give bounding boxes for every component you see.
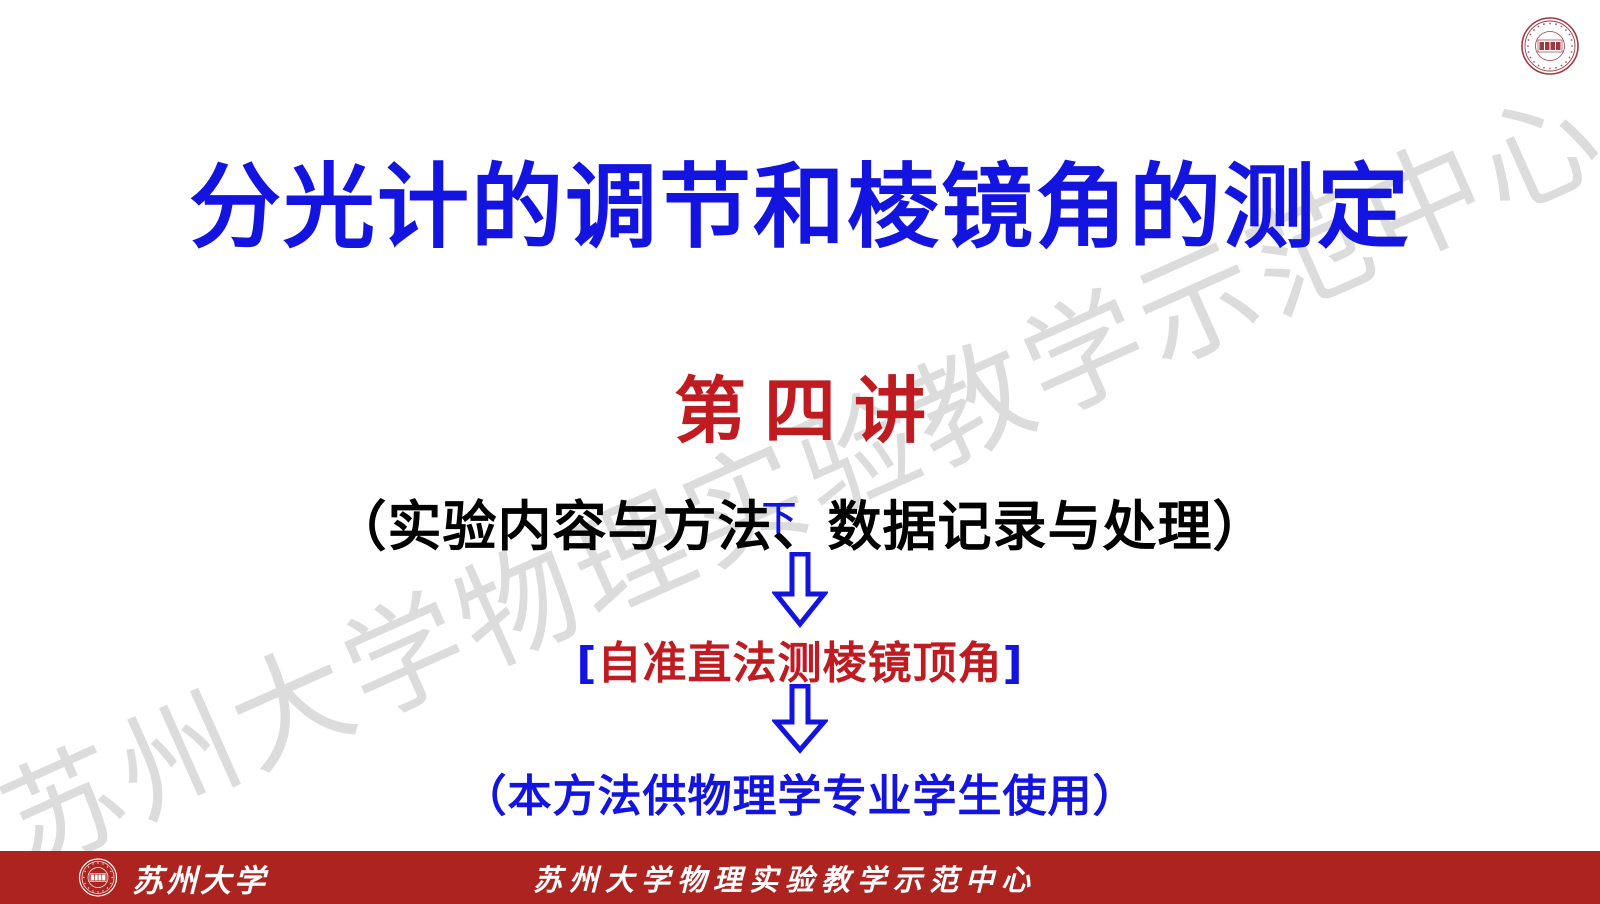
- presentation-slide: 苏州大学物理实验教学示范中心: [0, 0, 1600, 904]
- bracket-close: ]: [1003, 638, 1024, 689]
- slide-content: 分光计的调节和棱镜角的测定 第四讲 （实验内容与方法、数据记录与处理） 下 [自…: [0, 0, 1600, 850]
- down-arrow-icon-1: [772, 552, 828, 628]
- down-arrow-icon-2: [772, 684, 828, 754]
- method-callout: [自准直法测棱镜顶角]: [0, 627, 1600, 691]
- bracket-open: [: [576, 638, 597, 689]
- footer-bar: 苏州大学 苏州大学物理实验教学示范中心: [0, 851, 1600, 904]
- method-label: 自准直法测棱镜顶角: [598, 638, 1003, 689]
- page-subtitle: （实验内容与方法、数据记录与处理）: [0, 482, 1600, 561]
- subtitle-part-marker: 下: [762, 502, 796, 536]
- usage-note: （本方法供物理学专业学生使用）: [0, 760, 1600, 824]
- footer-center-text: 苏州大学物理实验教学示范中心: [0, 857, 1570, 899]
- page-title: 分光计的调节和棱镜角的测定: [0, 160, 1600, 257]
- university-seal-icon: [1520, 16, 1580, 76]
- lecture-number: 第四讲: [0, 352, 1600, 457]
